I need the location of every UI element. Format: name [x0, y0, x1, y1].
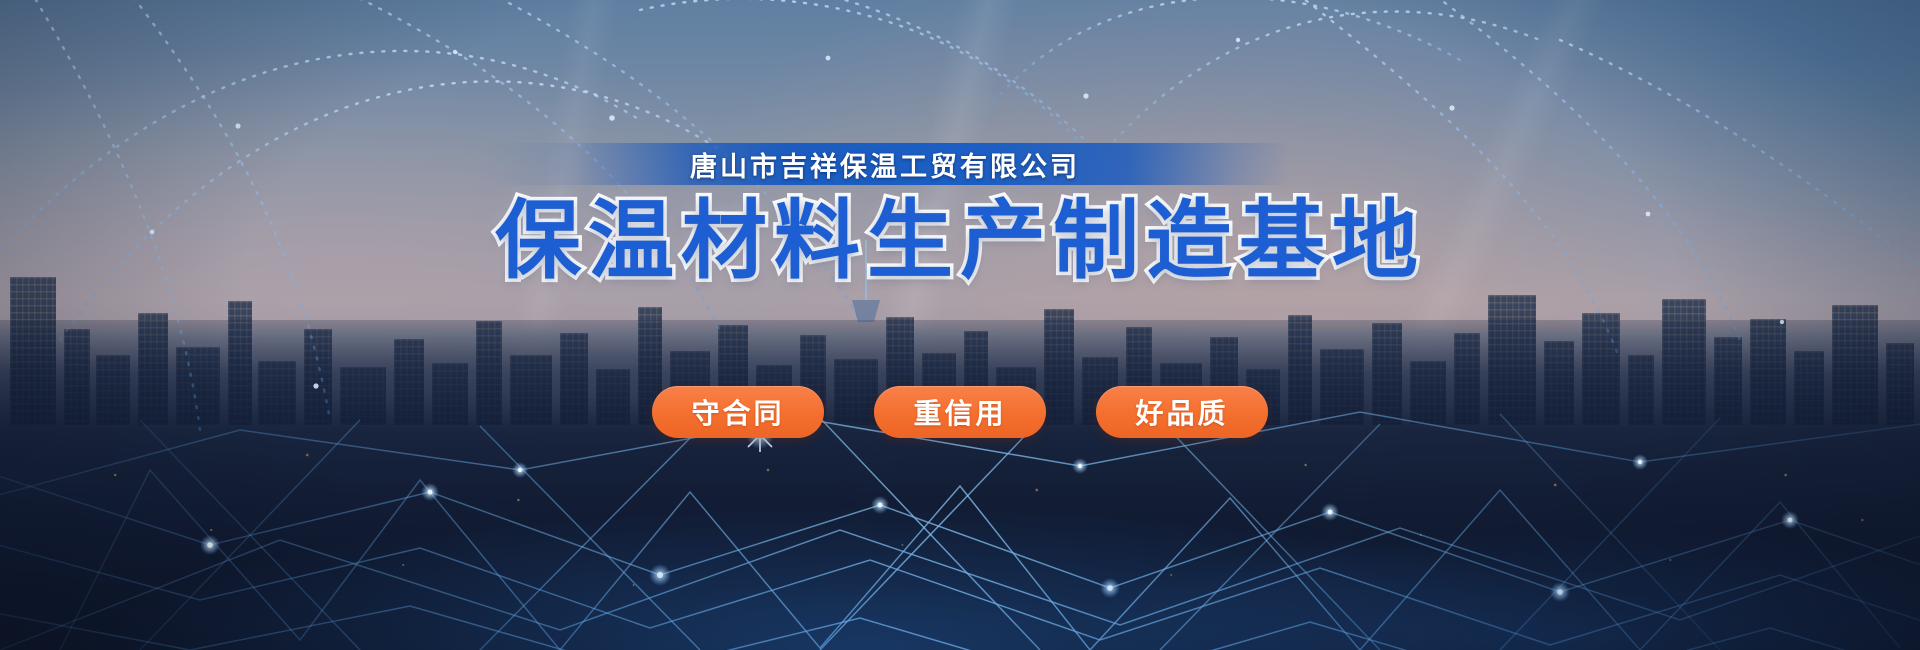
badge-label: 好品质 — [1135, 392, 1228, 432]
headline-container: 保温材料生产制造基地 — [0, 196, 1920, 287]
badge-shou-he-tong[interactable]: 守合同 — [652, 386, 824, 438]
hero-banner: 唐山市吉祥保温工贸有限公司 保温材料生产制造基地 守合同 重信用 好品质 — [0, 0, 1920, 650]
badge-zhong-xin-yong[interactable]: 重信用 — [874, 386, 1046, 438]
badge-label: 守合同 — [691, 392, 784, 432]
feature-badge-group: 守合同 重信用 好品质 — [0, 386, 1920, 438]
company-name: 唐山市吉祥保温工贸有限公司 — [690, 145, 1080, 184]
badge-label: 重信用 — [913, 392, 1006, 432]
page-title: 保温材料生产制造基地 — [495, 196, 1425, 287]
banner-content: 唐山市吉祥保温工贸有限公司 保温材料生产制造基地 守合同 重信用 好品质 — [0, 0, 1920, 650]
badge-hao-pin-zhi[interactable]: 好品质 — [1096, 386, 1268, 438]
company-name-strip: 唐山市吉祥保温工贸有限公司 — [480, 143, 1290, 185]
